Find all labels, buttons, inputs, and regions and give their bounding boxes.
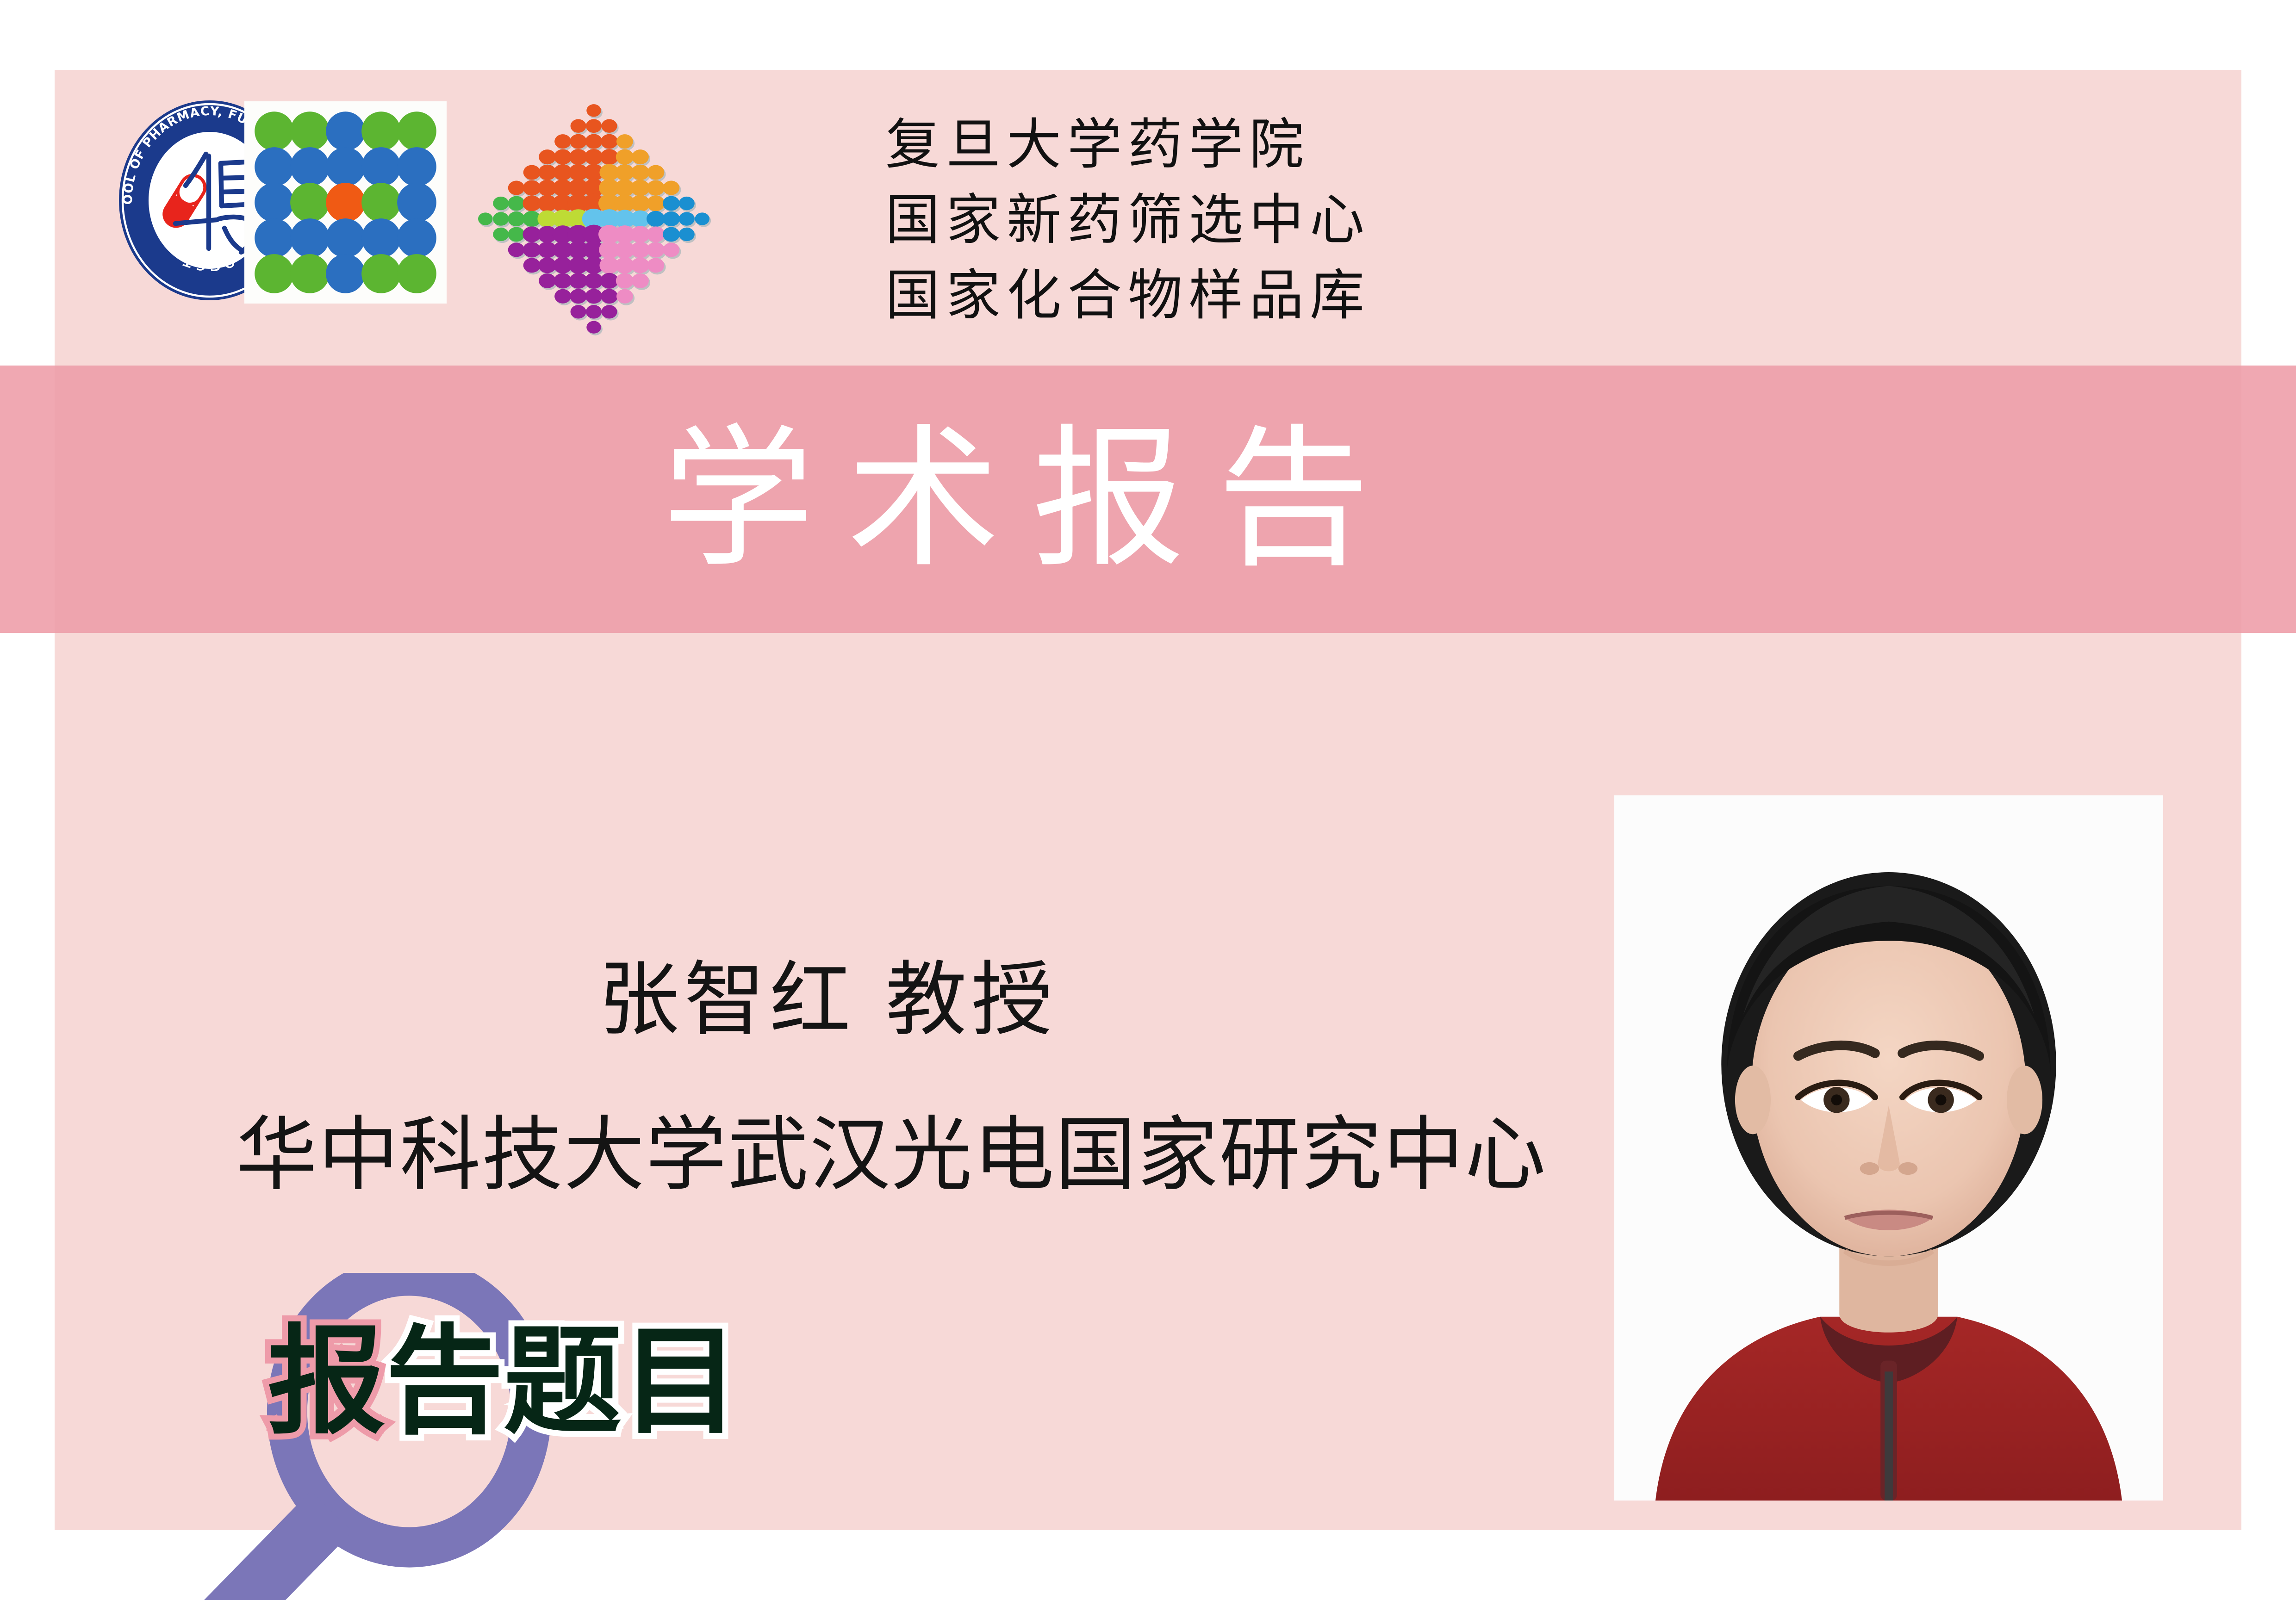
grid-dot-r3-c3: [326, 183, 365, 222]
sphere-dot: [523, 258, 541, 273]
sphere-dot: [616, 273, 634, 288]
sphere-dot: [523, 165, 541, 180]
grid-dot-r5-c2: [290, 254, 330, 293]
topic-first-char: 报: [268, 1313, 386, 1451]
academic-report-banner: 学术报告: [0, 366, 2296, 633]
sphere-dot: [663, 181, 679, 195]
grid-dot-r2-c4: [361, 147, 401, 186]
sphere-dot: [554, 273, 572, 288]
sphere-dot: [586, 305, 602, 319]
sphere-dot: [601, 134, 618, 149]
grid-dot-r4-c4: [361, 218, 401, 258]
sphere-dot: [600, 149, 618, 165]
banner-title-text: 学术报告: [662, 423, 1402, 576]
compound-library-sphere-logo-icon: [473, 94, 714, 344]
sphere-dot: [586, 104, 601, 117]
grid-dot-r3-c5: [397, 183, 436, 222]
sphere-dot: [632, 149, 649, 164]
sphere-dot: [570, 134, 587, 149]
sphere-dot: [554, 289, 571, 304]
grid-dot-r4-c5: [397, 218, 436, 258]
grid-dot-r2-c2: [290, 147, 330, 186]
sphere-dot: [679, 212, 695, 226]
report-topic-block: 报告题目: [198, 1273, 1309, 1600]
sphere-dot: [663, 242, 679, 257]
org-line-3: 国家化合物样品库: [885, 258, 1370, 333]
topic-rest-chars: 告题目: [386, 1313, 740, 1451]
sphere-dot: [508, 196, 525, 211]
sphere-dot: [631, 257, 649, 273]
sphere-dot: [601, 119, 617, 133]
grid-dot-r1-c5: [397, 112, 436, 151]
sphere-dot: [478, 212, 492, 225]
sphere-dot: [508, 181, 525, 195]
sphere-dot: [695, 212, 709, 225]
sphere-dot: [586, 119, 602, 133]
sphere-dot: [647, 258, 664, 273]
poster-header: SCHOOL OF PHARMACY, FUDAN UNIVERSITY 193…: [55, 70, 2241, 366]
sphere-dot: [601, 289, 618, 304]
speaker-affiliation: 华中科技大学武汉光电国家研究中心: [236, 1111, 1547, 1200]
sphere-dot: [493, 228, 509, 241]
sphere-dot: [586, 321, 601, 334]
sphere-dot: [493, 197, 509, 210]
sphere-dot: [601, 305, 617, 318]
poster-card: SCHOOL OF PHARMACY, FUDAN UNIVERSITY 193…: [55, 70, 2241, 1530]
sphere-dot: [647, 195, 665, 211]
grid-dot-r4-c1: [255, 218, 294, 258]
grid-dot-r1-c3: [326, 112, 365, 151]
grid-dot-r5-c4: [361, 254, 401, 293]
sphere-dot: [647, 165, 664, 180]
sphere-dot: [647, 242, 665, 257]
drug-screening-grid-logo-icon: [244, 101, 447, 304]
sphere-dot: [600, 273, 618, 289]
grid-dot-r5-c3: [326, 254, 365, 293]
grid-dot-r4-c2: [290, 218, 330, 258]
organization-name-block: 复旦大学药学院 国家新药筛选中心 国家化合物样品库: [885, 107, 1370, 333]
sphere-dot: [493, 212, 509, 226]
grid-dot-r3-c4: [361, 183, 401, 222]
grid-dot-r2-c5: [397, 147, 436, 186]
sphere-dot: [632, 273, 649, 288]
sphere-dot: [616, 149, 634, 165]
sphere-dot: [585, 289, 603, 304]
grid-dot-r2-c1: [255, 147, 294, 186]
sphere-dot: [663, 211, 680, 226]
grid-dot-r5-c5: [397, 254, 436, 293]
org-line-2: 国家新药筛选中心: [885, 182, 1370, 258]
sphere-dot: [663, 196, 680, 211]
org-line-1: 复旦大学药学院: [885, 107, 1370, 182]
sphere-dot: [508, 242, 525, 257]
sphere-dot: [570, 289, 587, 304]
grid-dot-r4-c3: [326, 218, 365, 258]
sphere-dot: [554, 149, 572, 165]
sphere-dot: [554, 134, 571, 149]
grid-dot-r5-c1: [255, 254, 294, 293]
sphere-dot: [508, 211, 525, 226]
sphere-dot: [647, 211, 665, 227]
grid-dot-r3-c2: [290, 183, 330, 222]
sphere-dot: [631, 165, 649, 180]
grid-dot-r1-c1: [255, 112, 294, 151]
sphere-dot: [679, 197, 695, 210]
report-topic-label: 报告题目: [268, 1323, 740, 1441]
sphere-dot: [663, 227, 680, 242]
sphere-dot: [539, 149, 556, 164]
grid-dot-r1-c2: [290, 112, 330, 151]
speaker-portrait-photo: [1614, 795, 2163, 1501]
sphere-dot: [679, 228, 695, 241]
sphere-dot: [647, 226, 665, 242]
sphere-dot: [585, 134, 603, 149]
sphere-dot: [647, 180, 665, 195]
grid-dot-r2-c3: [326, 147, 365, 186]
sphere-dot: [571, 305, 586, 318]
speaker-name: 张智红 教授: [598, 956, 1057, 1045]
sphere-dot: [539, 273, 556, 288]
sphere-dot: [571, 119, 586, 133]
grid-dot-r1-c4: [361, 112, 401, 151]
sphere-dot: [508, 227, 525, 242]
sphere-dot: [616, 134, 633, 149]
sphere-dot: [616, 289, 633, 304]
grid-dot-r3-c1: [255, 183, 294, 222]
